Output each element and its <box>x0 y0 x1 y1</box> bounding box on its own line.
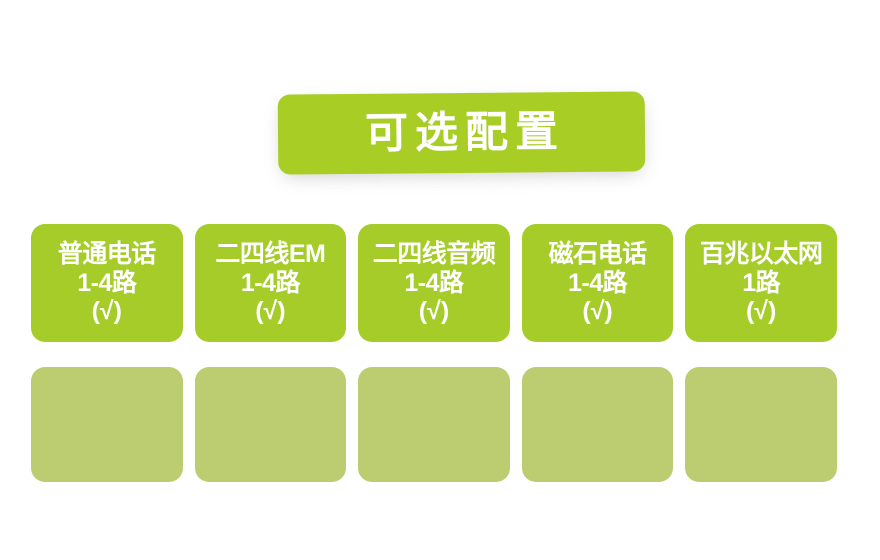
placeholder-card-row <box>31 367 837 482</box>
option-card-channels: 1-4路 <box>241 269 300 298</box>
option-card-二四线音频[interactable]: 二四线音频 1-4路 (√) <box>358 224 510 342</box>
option-card-channels: 1-4路 <box>568 269 627 298</box>
placeholder-card[interactable] <box>685 367 837 482</box>
page-title: 可选配置 <box>358 111 565 156</box>
placeholder-card[interactable] <box>195 367 347 482</box>
option-card-磁石电话[interactable]: 磁石电话 1-4路 (√) <box>522 224 674 342</box>
option-card-name: 二四线音频 <box>373 240 496 269</box>
placeholder-card[interactable] <box>522 367 674 482</box>
option-card-普通电话[interactable]: 普通电话 1-4路 (√) <box>31 224 183 342</box>
option-card-二四线EM[interactable]: 二四线EM 1-4路 (√) <box>195 224 347 342</box>
option-card-百兆以太网[interactable]: 百兆以太网 1路 (√) <box>685 224 837 342</box>
title-banner: 可选配置 <box>278 93 645 173</box>
option-card-check-mark: (√) <box>419 297 449 326</box>
placeholder-card[interactable] <box>31 367 183 482</box>
option-card-check-mark: (√) <box>92 297 122 326</box>
option-card-channels: 1-4路 <box>77 269 136 298</box>
option-card-name: 二四线EM <box>215 240 325 269</box>
option-card-name: 普通电话 <box>58 240 156 269</box>
option-card-name: 磁石电话 <box>549 240 647 269</box>
option-grid: 普通电话 1-4路 (√) 二四线EM 1-4路 (√) 二四线音频 1-4路 … <box>31 224 837 482</box>
placeholder-card[interactable] <box>358 367 510 482</box>
option-card-name: 百兆以太网 <box>700 240 823 269</box>
option-card-check-mark: (√) <box>582 297 612 326</box>
option-card-check-mark: (√) <box>255 297 285 326</box>
title-banner-body: 可选配置 <box>278 91 646 174</box>
option-card-channels: 1-4路 <box>404 269 463 298</box>
option-card-channels: 1路 <box>742 269 780 298</box>
option-card-check-mark: (√) <box>746 297 776 326</box>
option-card-row: 普通电话 1-4路 (√) 二四线EM 1-4路 (√) 二四线音频 1-4路 … <box>31 224 837 342</box>
